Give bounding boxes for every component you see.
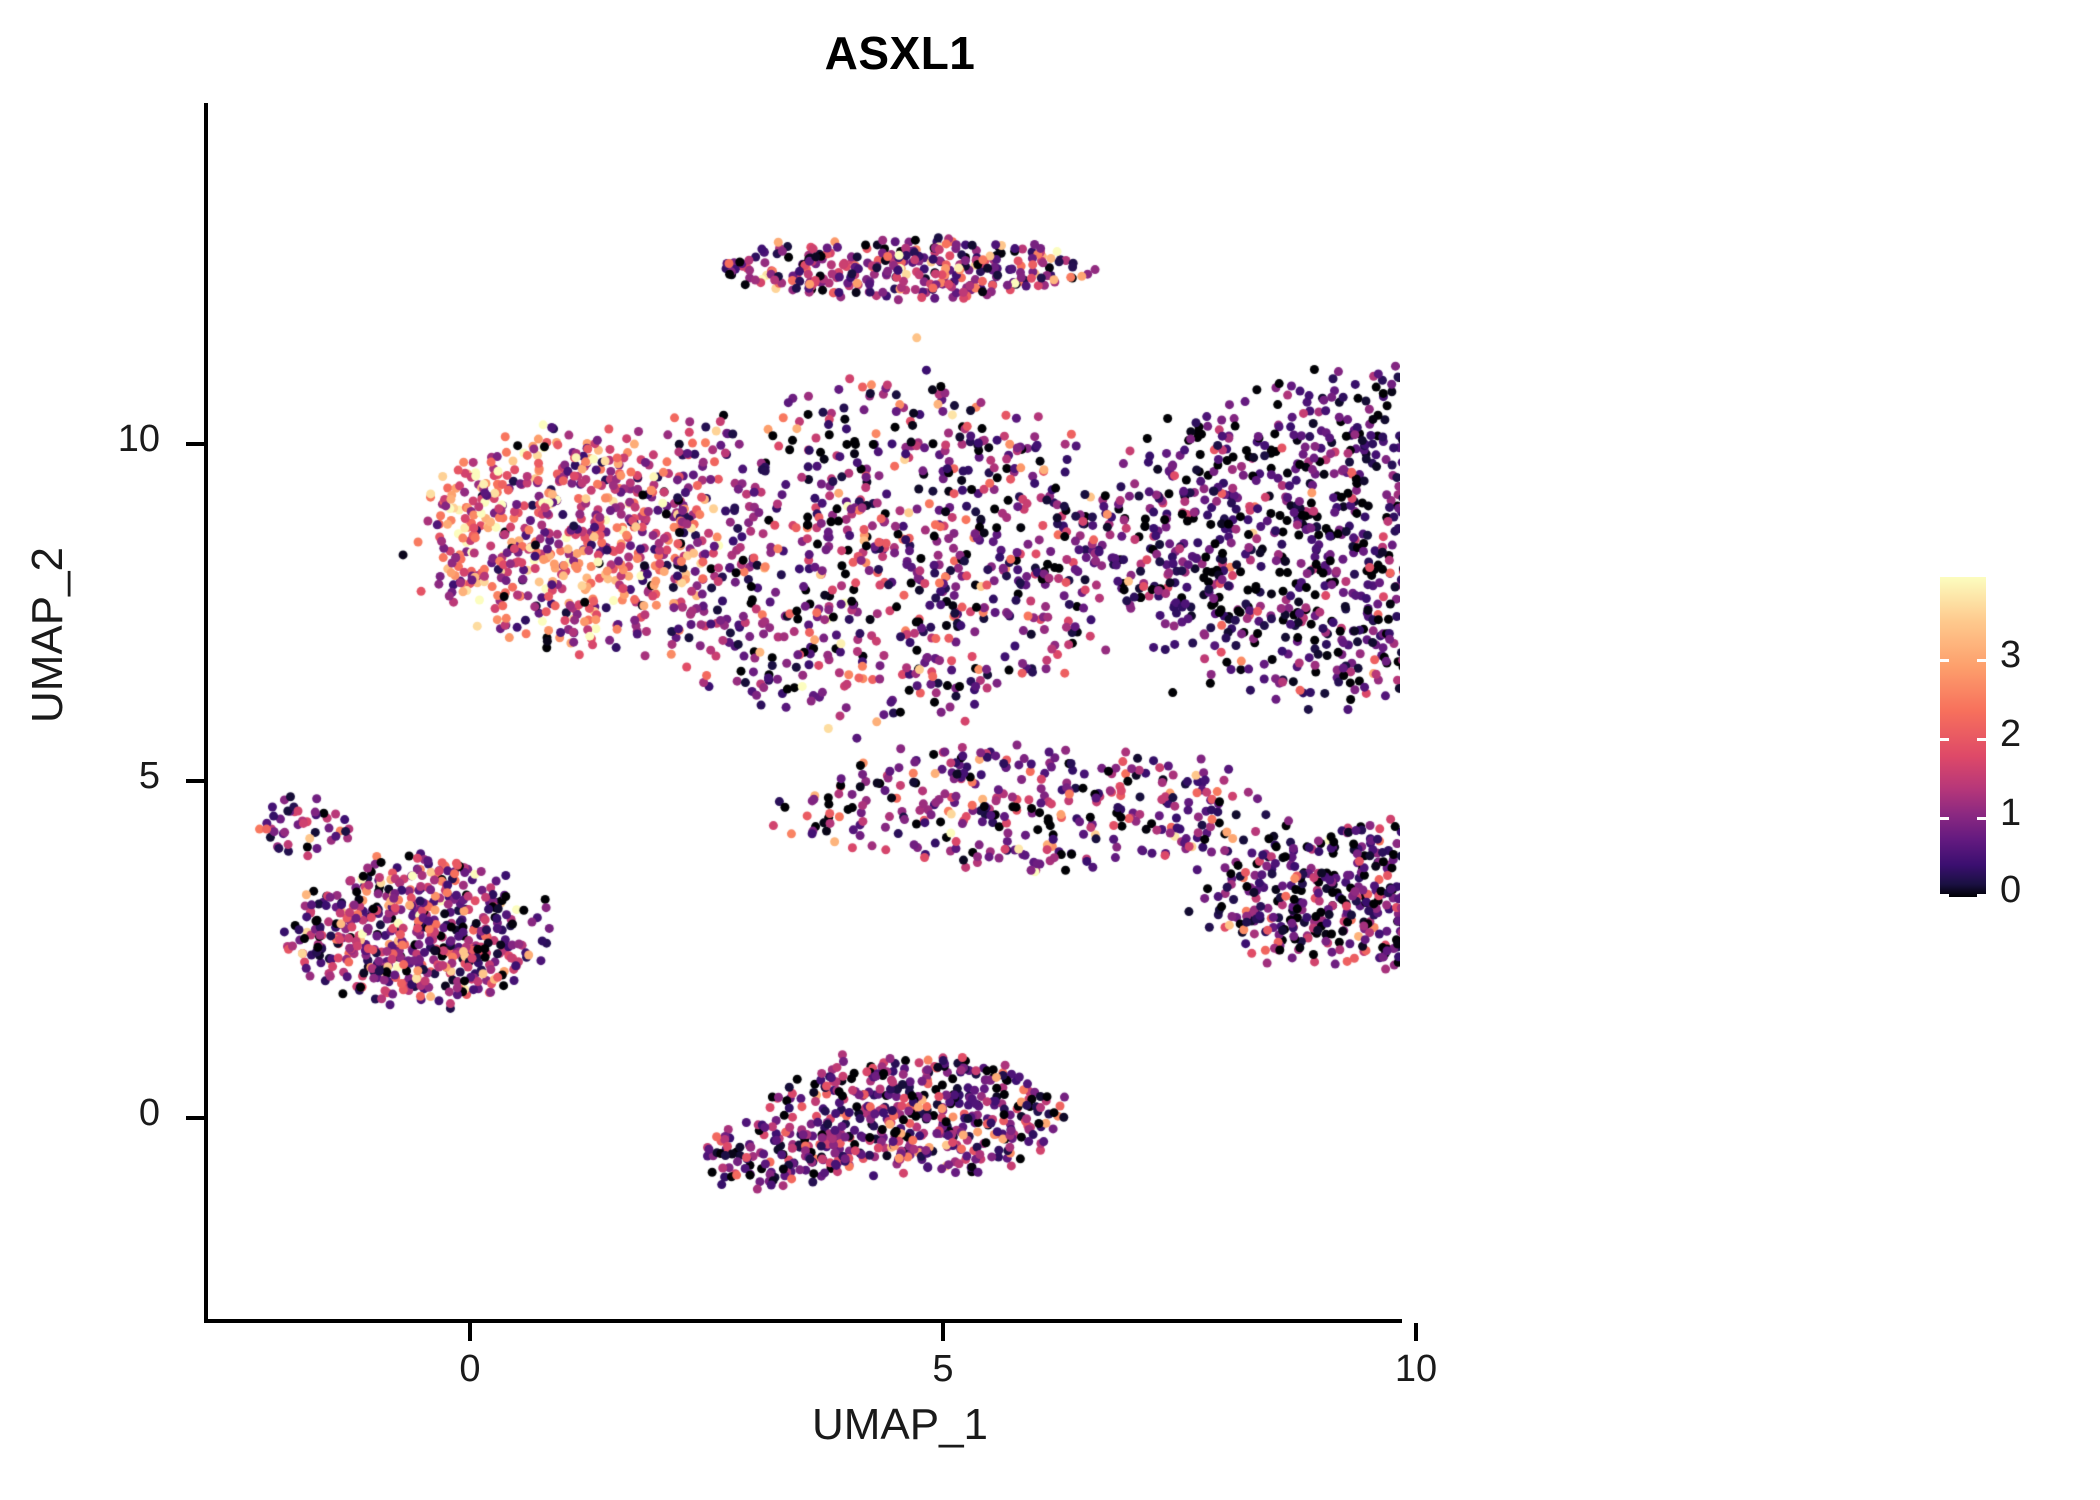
colorbar-tick-1-right (1977, 817, 1986, 820)
colorbar-tick-3-right (1977, 659, 1986, 662)
x-tick-0 (468, 1323, 472, 1341)
scatter-canvas (206, 105, 1400, 1320)
y-axis-line (204, 103, 208, 1323)
colorbar-gradient (1940, 577, 1986, 897)
colorbar-tick-1-left (1940, 817, 1949, 820)
y-tick-5 (186, 779, 204, 783)
y-axis-label: UMAP_2 (23, 415, 73, 855)
colorbar-tick-2-left (1940, 738, 1949, 741)
figure-root: ASXL1 10 5 0 0 5 10 UMAP_2 UMAP_1 3 2 1 … (0, 0, 2100, 1500)
x-tick-10 (1414, 1323, 1418, 1341)
page-title: ASXL1 (0, 26, 1800, 80)
x-ticklabel-0: 0 (400, 1348, 540, 1391)
colorbar-tick-0-right (1977, 894, 1986, 897)
x-axis-line (204, 1319, 1402, 1323)
colorbar-legend: 3 2 1 0 (1940, 577, 2090, 907)
colorbar-label-0: 0 (2000, 869, 2060, 912)
x-axis-label: UMAP_1 (400, 1400, 1400, 1450)
colorbar-tick-3-left (1940, 659, 1949, 662)
colorbar-tick-0-left (1940, 894, 1949, 897)
colorbar-label-2: 2 (2000, 713, 2060, 756)
y-tick-10 (186, 442, 204, 446)
colorbar-tick-2-right (1977, 738, 1986, 741)
plot-panel (206, 105, 1400, 1320)
colorbar-label-1: 1 (2000, 792, 2060, 835)
x-ticklabel-10: 10 (1346, 1348, 1486, 1391)
y-tick-0 (186, 1116, 204, 1120)
colorbar-label-3: 3 (2000, 634, 2060, 677)
x-tick-5 (941, 1323, 945, 1341)
y-ticklabel-0: 0 (40, 1092, 160, 1135)
x-ticklabel-5: 5 (873, 1348, 1013, 1391)
